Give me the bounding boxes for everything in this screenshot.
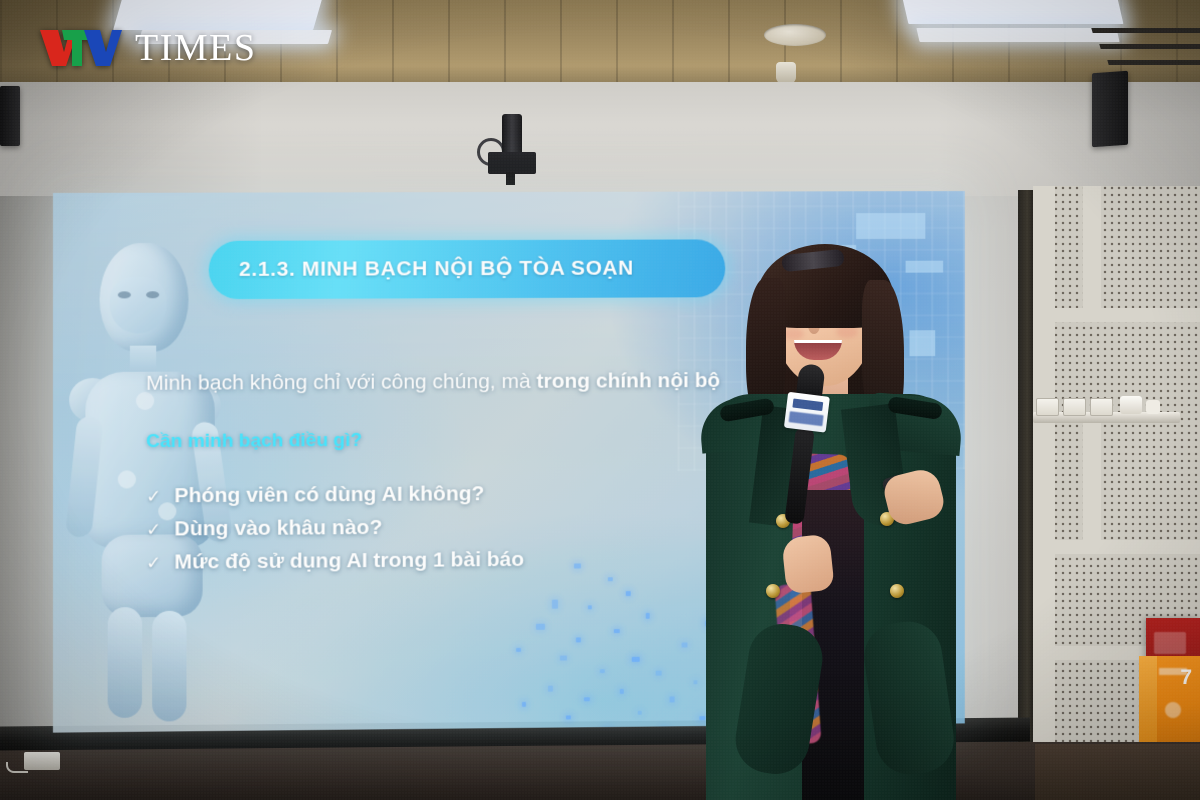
slide-bullet-list: ✓ Phóng viên có dùng AI không? ✓ Dùng và… bbox=[146, 482, 524, 584]
panel-gap-vertical-2 bbox=[1083, 186, 1101, 318]
robot-eye-right bbox=[146, 291, 159, 298]
sparkle-particle bbox=[548, 686, 553, 692]
ceiling-slat-dark-3 bbox=[1107, 60, 1200, 65]
ceiling-slat-dark-2 bbox=[1099, 44, 1200, 49]
ceiling-light-panel-left bbox=[113, 0, 323, 30]
times-wordmark: TIMES bbox=[135, 29, 257, 67]
sparkle-particle bbox=[584, 697, 590, 701]
screenshot-canvas: 7 bbox=[0, 0, 1200, 800]
coat-button-4 bbox=[890, 584, 904, 598]
power-outlet-1[interactable] bbox=[1036, 398, 1059, 416]
panel-gap-horizontal-1 bbox=[1033, 308, 1200, 322]
vtv-logo-svg bbox=[38, 28, 124, 68]
banner-graphic bbox=[1154, 632, 1186, 654]
sparkle-particle bbox=[620, 689, 624, 694]
list-item: ✓ Dùng vào khâu nào? bbox=[146, 515, 524, 542]
panel-gap-vertical-3 bbox=[1083, 420, 1101, 550]
orange-display-box: 7 bbox=[1139, 656, 1200, 744]
sparkle-particle bbox=[560, 656, 567, 661]
presenter-hand-left bbox=[781, 534, 835, 595]
sparkle-particle bbox=[588, 605, 592, 609]
vtv-times-watermark: TIMES bbox=[38, 28, 257, 68]
projector-base bbox=[488, 152, 536, 174]
sparkle-particle bbox=[552, 600, 558, 609]
slide-question: Cần minh bạch điều gì? bbox=[146, 430, 362, 453]
mic-flag-logo bbox=[792, 398, 823, 411]
ceiling-speaker-icon bbox=[764, 24, 826, 46]
check-icon: ✓ bbox=[146, 520, 160, 538]
box-number-label: 7 bbox=[1180, 666, 1192, 690]
list-item: ✓ Phóng viên có dùng AI không? bbox=[146, 482, 524, 509]
mic-flag-text bbox=[789, 411, 824, 426]
ai-robot-illustration bbox=[53, 233, 269, 707]
sparkle-particle bbox=[670, 696, 675, 702]
slide-lead-line: Minh bạch không chỉ với công chúng, mà t… bbox=[146, 369, 720, 396]
sparkle-particle bbox=[626, 591, 631, 596]
presenter-coat bbox=[684, 394, 986, 800]
robot-joint-2 bbox=[118, 470, 136, 488]
sparkle-particle bbox=[574, 563, 581, 568]
power-adapter-on-floor bbox=[24, 752, 60, 770]
sparkle-particle bbox=[600, 669, 605, 673]
sparkle-particle bbox=[614, 629, 620, 633]
wall-speaker-left bbox=[0, 86, 20, 146]
panel-gap-vertical-1 bbox=[1033, 186, 1055, 752]
bullet-text: Mức độ sử dụng AI trong 1 bài báo bbox=[174, 548, 524, 575]
bullet-text: Phóng viên có dùng AI không? bbox=[174, 482, 484, 508]
sparkle-particle bbox=[522, 702, 526, 707]
floor bbox=[0, 742, 1200, 800]
wall-sensor bbox=[1146, 400, 1160, 414]
bullet-text: Dùng vào khâu nào? bbox=[174, 516, 382, 542]
sparkle-particle bbox=[608, 577, 613, 581]
robot-leg-right bbox=[152, 611, 186, 722]
power-outlet-2[interactable] bbox=[1063, 398, 1086, 416]
check-icon: ✓ bbox=[146, 554, 160, 572]
panel-gap-horizontal-2 bbox=[1033, 540, 1200, 554]
upper-wall bbox=[0, 82, 1200, 202]
coat-button-3 bbox=[766, 584, 780, 598]
robot-face bbox=[110, 277, 167, 334]
sparkle-particle bbox=[516, 648, 521, 652]
wall-speaker-right bbox=[1092, 71, 1128, 148]
sparkle-particle bbox=[536, 624, 545, 630]
slide-lead-normal: Minh bạch không chỉ với công chúng, mà bbox=[146, 370, 536, 395]
box-icon bbox=[1165, 702, 1181, 718]
power-outlet-3[interactable] bbox=[1090, 398, 1113, 416]
sparkle-particle bbox=[566, 715, 571, 719]
ceiling-light-panel-right bbox=[902, 0, 1124, 24]
smoke-detector-icon bbox=[776, 62, 796, 84]
check-icon: ✓ bbox=[146, 487, 160, 505]
sparkle-particle bbox=[646, 613, 650, 619]
vtv-logo-icon bbox=[38, 28, 124, 68]
sparkle-particle bbox=[638, 711, 642, 715]
slide-title-pill: 2.1.3. MINH BẠCH NỘI BỘ TÒA SOẠN bbox=[209, 239, 726, 299]
wall-switch[interactable] bbox=[1120, 396, 1142, 414]
robot-leg-left bbox=[108, 607, 142, 718]
sparkle-particle bbox=[576, 637, 581, 642]
ceiling-slat-dark-1 bbox=[1091, 28, 1200, 33]
projector-stem bbox=[506, 172, 515, 185]
list-item: ✓ Mức độ sử dụng AI trong 1 bài báo bbox=[146, 548, 524, 575]
sparkle-particle bbox=[656, 671, 662, 676]
ceiling-light-panel-right-secondary bbox=[916, 28, 1119, 42]
sparkle-particle bbox=[632, 657, 640, 662]
box-side-face bbox=[1139, 656, 1157, 744]
presenter-person bbox=[690, 236, 980, 800]
slide-title-text: 2.1.3. MINH BẠCH NỘI BỘ TÒA SOẠN bbox=[209, 257, 634, 282]
microphone-flag bbox=[784, 392, 830, 433]
floor-right-section bbox=[1035, 744, 1200, 800]
robot-eye-left bbox=[118, 291, 131, 298]
